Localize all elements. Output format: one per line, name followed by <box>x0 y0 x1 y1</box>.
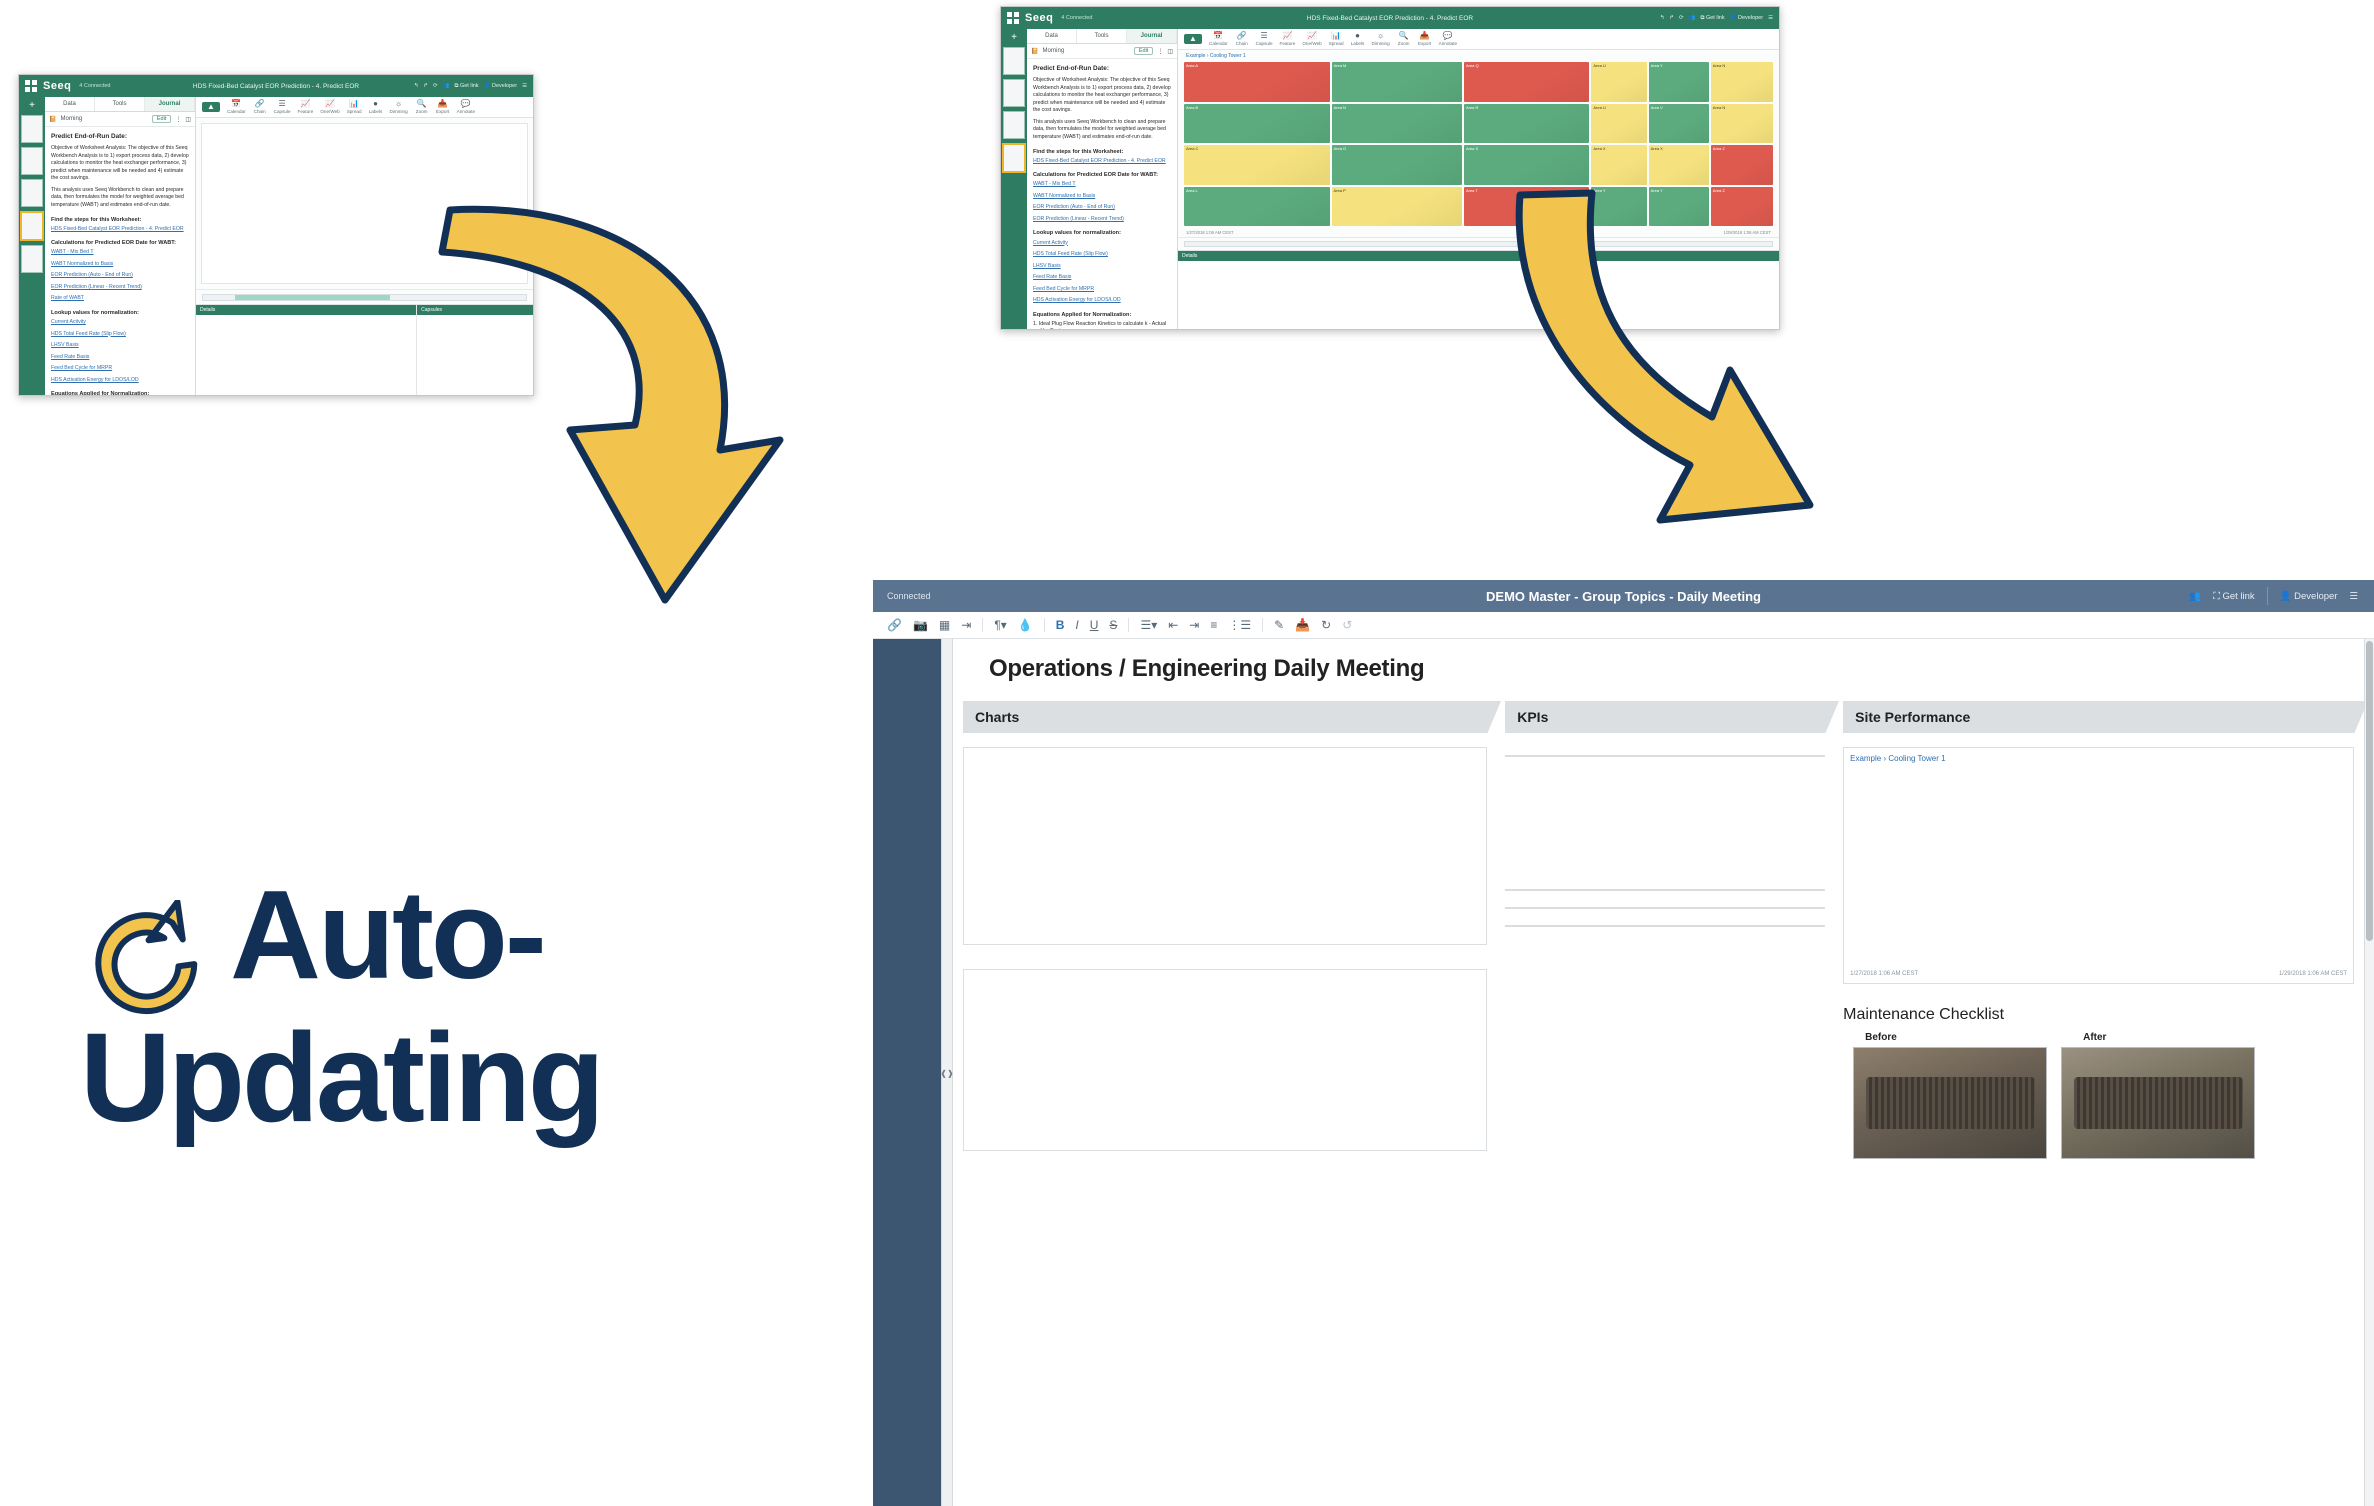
document-sidebar[interactable] <box>873 639 941 1506</box>
ordered-list-icon[interactable]: ≡ <box>1210 618 1217 632</box>
journal-icon: 📔 <box>49 116 56 123</box>
time-scrubber[interactable] <box>196 289 533 304</box>
get-link-button[interactable]: ⛶ Get link <box>2213 591 2255 602</box>
journal-link[interactable]: LHSV Basis <box>1033 263 1171 271</box>
journal-link[interactable]: EOR Prediction (Auto - End of Run) <box>51 272 189 280</box>
journal-paragraph-1: Objective of Worksheet Analysis: The obj… <box>1033 77 1171 115</box>
timestamp-left: 1/27/2018 1:06 AM CEST <box>1850 971 1918 977</box>
treemap-cell[interactable]: Area N <box>1711 104 1773 144</box>
people-icon[interactable]: 👥 <box>1689 15 1696 21</box>
spread-icon[interactable]: 📊Spread <box>1329 32 1344 46</box>
journal-tabs[interactable]: Data Tools Journal <box>1027 29 1177 44</box>
journal-subheading-steps: Find the steps for this Worksheet: <box>1033 148 1171 156</box>
bold-icon[interactable]: B <box>1056 618 1065 632</box>
treemap-cell[interactable]: Area Y <box>1649 62 1709 102</box>
treemap-timestamps: 1/27/2018 1:06 AM CEST 1/29/2018 1:06 AM… <box>1850 971 2347 977</box>
add-worksheet-icon[interactable]: + <box>1011 33 1017 43</box>
header-actions: 👥 ⛶ Get link 👤 Developer ☰ <box>2189 587 2374 605</box>
treemap-cell[interactable]: Area S <box>1464 145 1589 185</box>
get-link-button[interactable]: ⧉ Get link <box>1701 15 1725 22</box>
trend-view-icon[interactable]: ▲ <box>202 102 220 112</box>
treemap-cell[interactable]: Area X <box>1649 145 1709 185</box>
scrubber-track[interactable] <box>202 294 527 301</box>
worksheet-thumb-selected[interactable] <box>20 211 44 241</box>
journal-link[interactable]: HDS Activation Energy for LDOS/LOD <box>1033 297 1171 305</box>
photo-labels: Before After <box>1865 1032 2354 1043</box>
sidebar-collapse-handle[interactable]: ❰❱ <box>941 639 953 1506</box>
journal-link[interactable]: EOR Prediction (Linear - Recent Trend) <box>51 284 189 292</box>
redo-icon[interactable]: ↱ <box>423 83 428 89</box>
journal-link[interactable]: WABT Normalized to Basis <box>1033 193 1171 201</box>
journal-link[interactable]: Rate of WABT <box>51 295 189 303</box>
journal-link[interactable]: Feed Rate Basis <box>1033 274 1171 282</box>
annotate-icon[interactable]: 💬Annotate <box>457 100 475 114</box>
link-icon[interactable]: 🔗 <box>887 618 902 632</box>
image-icon[interactable]: 📷 <box>913 618 928 632</box>
photo-after[interactable] <box>2061 1047 2255 1159</box>
journal-link[interactable]: WABT Normalized to Basis <box>51 261 189 269</box>
chain-icon[interactable]: 🔗Chain <box>253 100 267 114</box>
redo-icon[interactable]: ↱ <box>1669 15 1674 21</box>
divider <box>1044 618 1045 632</box>
header-actions: ↰ ↱ ⟳ 👥 ⧉ Get link 👤 Developer ☰ <box>1660 15 1779 22</box>
journal-heading: Predict End-of-Run Date: <box>1033 64 1171 73</box>
journal-link[interactable]: HDS Total Feed Rate (Slip Flow) <box>1033 251 1171 259</box>
worksheet-main: ▲ 📅Calendar 🔗Chain ☰Capsule 📈Feature 📈On… <box>1178 29 1779 329</box>
treemap-breadcrumb[interactable]: Example › Cooling Tower 1 <box>1850 754 2347 763</box>
kpi-table-maintenance <box>1505 889 1825 891</box>
slide-headline: Auto- Updating <box>80 875 700 1139</box>
temperature-chart-card[interactable] <box>963 747 1487 945</box>
journal-link[interactable]: HDS Total Feed Rate (Slip Flow) <box>51 331 189 339</box>
divider <box>2267 587 2268 605</box>
tab-journal[interactable]: Journal <box>1127 29 1177 43</box>
export-icon[interactable]: 📥Export <box>436 100 450 114</box>
journal-link[interactable]: LHSV Basis <box>51 342 189 350</box>
worksheet-rail[interactable]: + <box>1001 29 1027 329</box>
journal-toolbar: 📔 Morning Edit ⋮ ◫ <box>45 112 195 127</box>
feature-icon[interactable]: 📈Feature <box>298 100 314 114</box>
kpi-table-coefficient <box>1505 907 1825 909</box>
treemap-cell[interactable]: Area C <box>1184 145 1330 185</box>
organizer-header-bar: Connected DEMO Master - Group Topics - D… <box>873 580 2374 612</box>
italic-icon[interactable]: I <box>1075 618 1078 632</box>
timestamp-right: 1/29/2018 1:06 AM CEST <box>2279 971 2347 977</box>
timestamp-right: 1/29/2018 1:06 AM CEST <box>1724 230 1772 235</box>
capsule-icon[interactable]: ☰Capsule <box>1256 32 1273 46</box>
treemap-cell[interactable]: Area Z <box>1711 187 1773 227</box>
topic-title: DEMO Master - Group Topics - Daily Meeti… <box>873 589 2374 604</box>
headline-line-1: Auto- <box>80 875 700 996</box>
zoom-icon[interactable]: 🔍Zoom <box>415 100 429 114</box>
pdf-icon[interactable]: 📥 <box>1295 618 1310 632</box>
details-panel-header: Details <box>1178 251 1779 261</box>
app-grid-icon[interactable] <box>25 80 37 92</box>
treemap-cell[interactable]: Area P <box>1332 187 1462 227</box>
labels-icon[interactable]: ●Labels <box>1351 32 1365 46</box>
scrubber-track[interactable] <box>1184 241 1773 247</box>
maintenance-photos <box>1853 1047 2354 1159</box>
journal-subheading-calcs: Calculations for Predicted EOR Date for … <box>51 239 189 247</box>
developer-button[interactable]: 👤 Developer <box>1730 15 1763 21</box>
worksheet-thumb[interactable] <box>21 115 43 143</box>
treemap-cell[interactable]: Area U <box>1591 62 1646 102</box>
worksheet-toolbar[interactable]: ▲ 📅Calendar 🔗Chain ☰Capsule 📈Feature 📈On… <box>196 97 533 118</box>
column-header-kpis: KPIs <box>1505 701 1825 733</box>
treemap-timestamps: 1/27/2018 1:06 AM CEST 1/29/2018 1:06 AM… <box>1178 230 1779 237</box>
treemap-cell[interactable]: Area B <box>1184 104 1330 144</box>
seeq-workbench-window-right[interactable]: Seeq 4 Connected HDS Fixed-Bed Catalyst … <box>1000 6 1780 330</box>
tab-tools[interactable]: Tools <box>1077 29 1127 43</box>
edit-button[interactable]: Edit <box>152 115 171 123</box>
tab-data[interactable]: Data <box>45 97 95 111</box>
people-icon[interactable]: 👥 <box>443 83 450 89</box>
divider <box>1128 618 1129 632</box>
kebab-icon[interactable]: ⋮ <box>175 116 181 123</box>
dimming-icon[interactable]: ☼Dimming <box>390 100 408 114</box>
journal-content: Predict End-of-Run Date: Objective of Wo… <box>45 127 195 395</box>
journal-link[interactable]: WABT - Mix Bed T <box>1033 181 1171 189</box>
journal-panel: Data Tools Journal 📔 Morning Edit ⋮ ◫ Pr… <box>1027 29 1178 329</box>
developer-button[interactable]: 👤 Developer <box>484 83 517 89</box>
treemap-cell[interactable]: Area L <box>1184 187 1330 227</box>
connection-status: 4 Connected <box>1061 15 1092 21</box>
journal-subheading-calcs: Calculations for Predicted EOR Date for … <box>1033 171 1171 179</box>
treemap-cell[interactable]: Area Y <box>1649 187 1709 227</box>
journal-content: Predict End-of-Run Date: Objective of Wo… <box>1027 59 1177 329</box>
details-label: Details <box>1182 253 1197 259</box>
treemap-cell[interactable]: Area A <box>1184 62 1330 102</box>
connection-status: 4 Connected <box>79 83 110 89</box>
refresh-icon[interactable]: ⟳ <box>1679 15 1684 21</box>
journal-name: Morning <box>60 116 82 122</box>
worksheet-thumb[interactable] <box>21 179 43 207</box>
worksheet-thumb-selected[interactable] <box>1002 143 1026 173</box>
time-scrubber[interactable] <box>1178 237 1779 250</box>
worksheet-thumb[interactable] <box>1003 79 1025 107</box>
treemap-cell[interactable]: Area X <box>1591 145 1646 185</box>
treemap-cell[interactable]: Area O <box>1332 145 1462 185</box>
refresh-icon[interactable]: ↻ <box>1321 618 1331 632</box>
zoom-icon[interactable]: 🔍Zoom <box>1397 32 1411 46</box>
worksheet-thumb[interactable] <box>21 245 43 273</box>
journal-worksheet-link[interactable]: HDS Fixed-Bed Catalyst EOR Prediction - … <box>1033 158 1171 166</box>
treemap-cell[interactable]: Area N <box>1332 104 1462 144</box>
journal-subheading-steps: Find the steps for this Worksheet: <box>51 216 189 224</box>
header-actions: ↰ ↱ ⟳ 👥 ⧉ Get link 👤 Developer ☰ <box>414 83 533 90</box>
hamburger-icon[interactable]: ☰ <box>2349 591 2358 602</box>
tab-data[interactable]: Data <box>1027 29 1077 43</box>
treemap-cell[interactable]: Area Y <box>1591 187 1646 227</box>
edit-button[interactable]: Edit <box>1134 47 1153 55</box>
tab-tools[interactable]: Tools <box>95 97 145 111</box>
journal-link[interactable]: Feed Rate Basis <box>51 354 189 362</box>
underline-icon[interactable]: U <box>1090 618 1099 632</box>
treemap-cell[interactable]: Area T <box>1464 187 1589 227</box>
add-worksheet-icon[interactable]: + <box>29 101 35 111</box>
journal-subheading-equations: Equations Applied for Normalization: <box>1033 311 1171 319</box>
worksheet-thumb[interactable] <box>1003 111 1025 139</box>
journal-subheading-lookup: Lookup values for normalization: <box>1033 229 1171 237</box>
indent-increase-icon[interactable]: ⇥ <box>1189 618 1199 632</box>
hamburger-icon[interactable]: ☰ <box>522 83 527 89</box>
table-icon[interactable]: ▦ <box>939 618 950 632</box>
treemap-cell[interactable]: Area Z <box>1711 145 1773 185</box>
column-header-charts: Charts <box>963 701 1487 733</box>
capsules-label: Capsules <box>421 307 442 313</box>
kpi-table-savings <box>1505 925 1825 927</box>
journal-link[interactable]: HDS Activation Energy for LDOS/LOD <box>51 377 189 385</box>
panel-toggle-icon[interactable]: ◫ <box>1167 48 1173 55</box>
site-performance-card[interactable]: Example › Cooling Tower 1 1/27/2018 1:06… <box>1843 747 2354 984</box>
journal-panel: Data Tools Journal 📔 Morning Edit ⋮ ◫ Pr… <box>45 97 196 395</box>
seeq-logo: Seeq <box>43 80 71 92</box>
journal-link[interactable]: Current Activity <box>1033 240 1171 248</box>
kpi-table-temperature <box>1505 755 1825 757</box>
refresh-icon[interactable]: ⟳ <box>433 83 438 89</box>
timestamp-left: 1/27/2018 1:06 AM CEST <box>1186 230 1234 235</box>
tab-journal[interactable]: Journal <box>145 97 195 111</box>
journal-subheading-lookup: Lookup values for normalization: <box>51 309 189 317</box>
app-grid-icon[interactable] <box>1007 12 1019 24</box>
equation-1-caption: 1. Ideal Plug Flow Reaction Kinetics to … <box>1033 321 1171 329</box>
treemap-cell[interactable]: Area R <box>1464 104 1589 144</box>
details-and-capsules: Details Capsules <box>196 304 533 395</box>
get-link-button[interactable]: ⧉ Get link <box>455 83 479 90</box>
hamburger-icon[interactable]: ☰ <box>1768 15 1773 21</box>
journal-paragraph-1: Objective of Worksheet Analysis: The obj… <box>51 145 189 183</box>
calendar-icon[interactable]: 📅Calendar <box>1209 32 1228 46</box>
journal-link[interactable]: Feed Bed Cycle for MRPR <box>51 365 189 373</box>
divider <box>982 618 983 632</box>
capsules-panel-header: Capsules <box>417 305 533 315</box>
journal-link[interactable]: EOR Prediction (Auto - End of Run) <box>1033 204 1171 212</box>
divider <box>1262 618 1263 632</box>
treemap-cell[interactable]: Area N <box>1711 62 1773 102</box>
one-to-one-icon[interactable]: 📈One/Web <box>320 100 339 114</box>
spread-icon[interactable]: 📊Spread <box>347 100 362 114</box>
journal-link[interactable]: EOR Prediction (Linear - Recent Trend) <box>1033 216 1171 224</box>
details-label: Details <box>200 307 215 313</box>
photo-label-before: Before <box>1865 1032 2057 1043</box>
details-panel-header: Details <box>196 305 416 315</box>
seeq-logo: Seeq <box>1025 12 1053 24</box>
journal-link[interactable]: Feed Bed Cycle for MRPR <box>1033 286 1171 294</box>
ht-coefficient-chart-card[interactable] <box>963 969 1487 1151</box>
journal-link[interactable]: WABT - Mix Bed T <box>51 249 189 257</box>
journal-name: Morning <box>1042 48 1064 54</box>
export-icon[interactable]: 📥Export <box>1418 32 1432 46</box>
feature-icon[interactable]: 📈Feature <box>1280 32 1296 46</box>
maintenance-checklist-heading: Maintenance Checklist <box>1843 1006 2354 1024</box>
journal-tabs[interactable]: Data Tools Journal <box>45 97 195 112</box>
journal-paragraph-2: This analysis uses Seeq Workbench to cle… <box>51 187 189 210</box>
auto-refresh-icon[interactable]: ↺ <box>1342 618 1352 632</box>
treemap-cell[interactable]: Area M <box>1332 62 1462 102</box>
photo-before[interactable] <box>1853 1047 2047 1159</box>
journal-heading: Predict End-of-Run Date: <box>51 132 189 141</box>
headline-line-2: Updating <box>80 1018 700 1139</box>
worksheet-toolbar[interactable]: ▲ 📅Calendar 🔗Chain ☰Capsule 📈Feature 📈On… <box>1178 29 1779 50</box>
column-header-site-performance: Site Performance <box>1843 701 2354 733</box>
calendar-icon[interactable]: 📅Calendar <box>227 100 246 114</box>
dimming-icon[interactable]: ☼Dimming <box>1372 32 1390 46</box>
photo-label-after: After <box>2083 1032 2106 1043</box>
treemap-breadcrumb[interactable]: Example › Cooling Tower 1 <box>1178 50 1779 62</box>
capsule-icon[interactable]: ☰Capsule <box>274 100 291 114</box>
journal-worksheet-link[interactable]: HDS Fixed-Bed Catalyst EOR Prediction - … <box>51 226 189 234</box>
one-to-one-icon[interactable]: 📈One/Web <box>1302 32 1321 46</box>
treemap-view-icon[interactable]: ▲ <box>1184 34 1202 44</box>
page-break-icon[interactable]: ⇥ <box>961 618 971 632</box>
seeq-workbench-window-left[interactable]: Seeq 4 Connected HDS Fixed-Bed Catalyst … <box>18 74 534 396</box>
journal-toolbar: 📔 Morning Edit ⋮ ◫ <box>1027 44 1177 59</box>
eraser-icon[interactable]: ✎ <box>1274 618 1284 632</box>
align-icon[interactable]: ☰▾ <box>1140 618 1157 632</box>
paragraph-icon[interactable]: ¶▾ <box>994 618 1006 632</box>
treemap-cell[interactable]: Area V <box>1649 104 1709 144</box>
worksheet-thumb[interactable] <box>1003 47 1025 75</box>
journal-paragraph-2: This analysis uses Seeq Workbench to cle… <box>1033 119 1171 142</box>
highlight-icon[interactable]: 💧 <box>1018 618 1033 632</box>
treemap-cell[interactable]: Area Q <box>1464 62 1589 102</box>
organizer-topic-window[interactable]: Connected DEMO Master - Group Topics - D… <box>873 580 2374 1506</box>
seeq-header-bar: Seeq 4 Connected HDS Fixed-Bed Catalyst … <box>1001 7 1779 29</box>
worksheet-rail[interactable]: + <box>19 97 45 395</box>
document-canvas[interactable]: Operations / Engineering Daily Meeting C… <box>953 639 2364 1506</box>
developer-button[interactable]: 👤 Developer <box>2280 591 2338 602</box>
seeq-header-bar: Seeq 4 Connected HDS Fixed-Bed Catalyst … <box>19 75 533 97</box>
vertical-scrollbar[interactable] <box>2364 639 2374 1506</box>
treemap-container[interactable]: Area AArea MArea QArea UArea YArea NArea… <box>1178 62 1779 230</box>
undo-icon[interactable]: ↰ <box>414 83 419 89</box>
scrollbar-thumb[interactable] <box>2366 641 2373 941</box>
undo-icon[interactable]: ↰ <box>1660 15 1665 21</box>
journal-subheading-equations: Equations Applied for Normalization: <box>51 390 189 395</box>
unordered-list-icon[interactable]: ⋮☰ <box>1228 618 1251 632</box>
annotate-icon[interactable]: 💬Annotate <box>1439 32 1457 46</box>
labels-icon[interactable]: ●Labels <box>369 100 383 114</box>
strikethrough-icon[interactable]: S <box>1109 618 1117 632</box>
document-heading: Operations / Engineering Daily Meeting <box>989 655 2328 683</box>
worksheet-main: ▲ 📅Calendar 🔗Chain ☰Capsule 📈Feature 📈On… <box>196 97 533 395</box>
journal-icon: 📔 <box>1031 48 1038 55</box>
details-panel: Details <box>1178 250 1779 329</box>
editor-toolbar[interactable]: 🔗 📷 ▦ ⇥ ¶▾ 💧 B I U S ☰▾ ⇤ ⇥ ≡ ⋮☰ ✎ 📥 ↻ ↺ <box>873 612 2374 639</box>
panel-toggle-icon[interactable]: ◫ <box>185 116 191 123</box>
chain-icon[interactable]: 🔗Chain <box>1235 32 1249 46</box>
treemap-cell[interactable]: Area U <box>1591 104 1646 144</box>
connection-status: Connected <box>887 591 931 601</box>
journal-link[interactable]: Current Activity <box>51 319 189 327</box>
worksheet-thumb[interactable] <box>21 147 43 175</box>
temperature-trend-chart[interactable] <box>201 123 528 284</box>
kebab-icon[interactable]: ⋮ <box>1157 48 1163 55</box>
indent-decrease-icon[interactable]: ⇤ <box>1168 618 1178 632</box>
people-icon[interactable]: 👥 <box>2189 591 2201 602</box>
